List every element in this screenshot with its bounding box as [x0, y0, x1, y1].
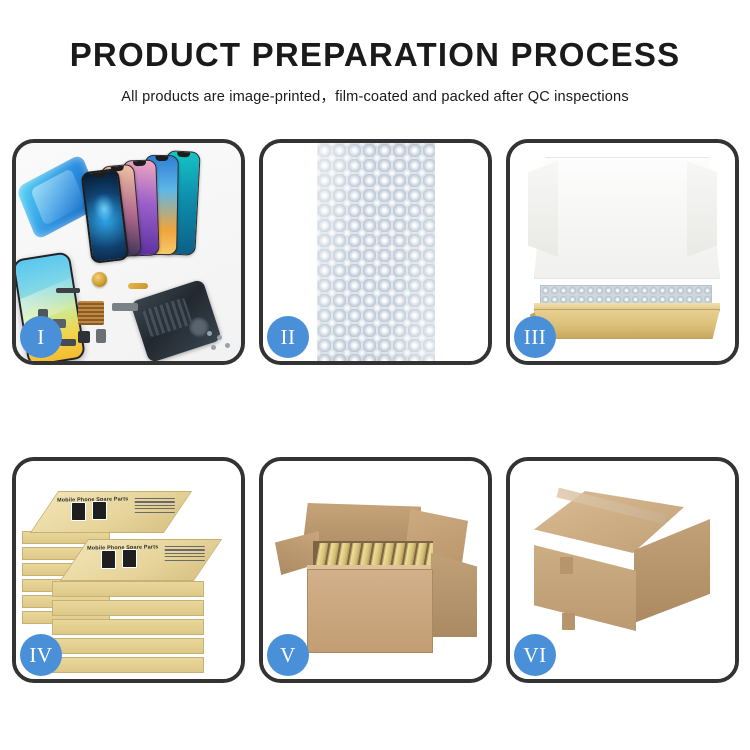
process-step-2: II [259, 139, 492, 365]
step-badge-4: IV [20, 634, 62, 676]
carton-tab-lower [562, 613, 575, 630]
product-preparation-infographic: PRODUCT PREPARATION PROCESS All products… [0, 0, 750, 750]
process-step-4: Mobile Phone Spare Parts Mobile Phone Sp… [12, 457, 245, 683]
stack-box-front-4 [52, 638, 204, 654]
mesh-grille-part [78, 301, 104, 325]
sealed-carton-front-face [534, 545, 636, 631]
button-flex-part [60, 339, 76, 346]
flex-cable-part-a [128, 283, 148, 289]
stack-box-front-3 [52, 619, 204, 635]
vibration-motor-part [92, 272, 107, 287]
page-subtitle: All products are image-printed，film-coat… [0, 85, 750, 106]
camera-module-part [78, 331, 90, 343]
stack-box-printed-top-lower: Mobile Phone Spare Parts [60, 539, 222, 581]
carton-front-face [307, 569, 433, 653]
step-badge-2: II [267, 316, 309, 358]
step-badge-6: VI [514, 634, 556, 676]
screws-group [207, 331, 233, 353]
battery-connector-part [96, 329, 106, 343]
bubble-wrap-sheet [317, 143, 435, 361]
step-badge-1: I [20, 316, 62, 358]
process-step-6: VI [506, 457, 739, 683]
box-lid-flap-left [528, 161, 558, 257]
stack-box-front-5 [52, 657, 204, 673]
plastic-sheen-overlay [317, 143, 435, 361]
process-step-3: III [506, 139, 739, 365]
process-step-1: I [12, 139, 245, 365]
step-badge-5: V [267, 634, 309, 676]
box-product-images-upper [71, 502, 119, 522]
page-title: PRODUCT PREPARATION PROCESS [0, 36, 750, 74]
box-spec-lines-lower [165, 546, 205, 563]
stack-box-front-2 [52, 600, 204, 616]
stack-box-printed-top-upper: Mobile Phone Spare Parts [30, 491, 192, 533]
process-step-5: V [259, 457, 492, 683]
carton-tab-upper [560, 557, 573, 574]
speaker-mesh-part [56, 288, 80, 293]
stack-box-front-1 [52, 581, 204, 597]
process-step-grid: I II [12, 139, 738, 683]
kraft-box-front [534, 309, 720, 339]
box-lid-flap-right [687, 161, 717, 257]
header: PRODUCT PREPARATION PROCESS All products… [0, 0, 750, 106]
step-badge-3: III [514, 316, 556, 358]
carton-side-face [431, 553, 477, 637]
phone-lineup [88, 151, 238, 263]
box-product-images-lower [101, 550, 149, 570]
flex-cable-part-b [112, 303, 138, 311]
box-spec-lines-upper [135, 498, 175, 515]
